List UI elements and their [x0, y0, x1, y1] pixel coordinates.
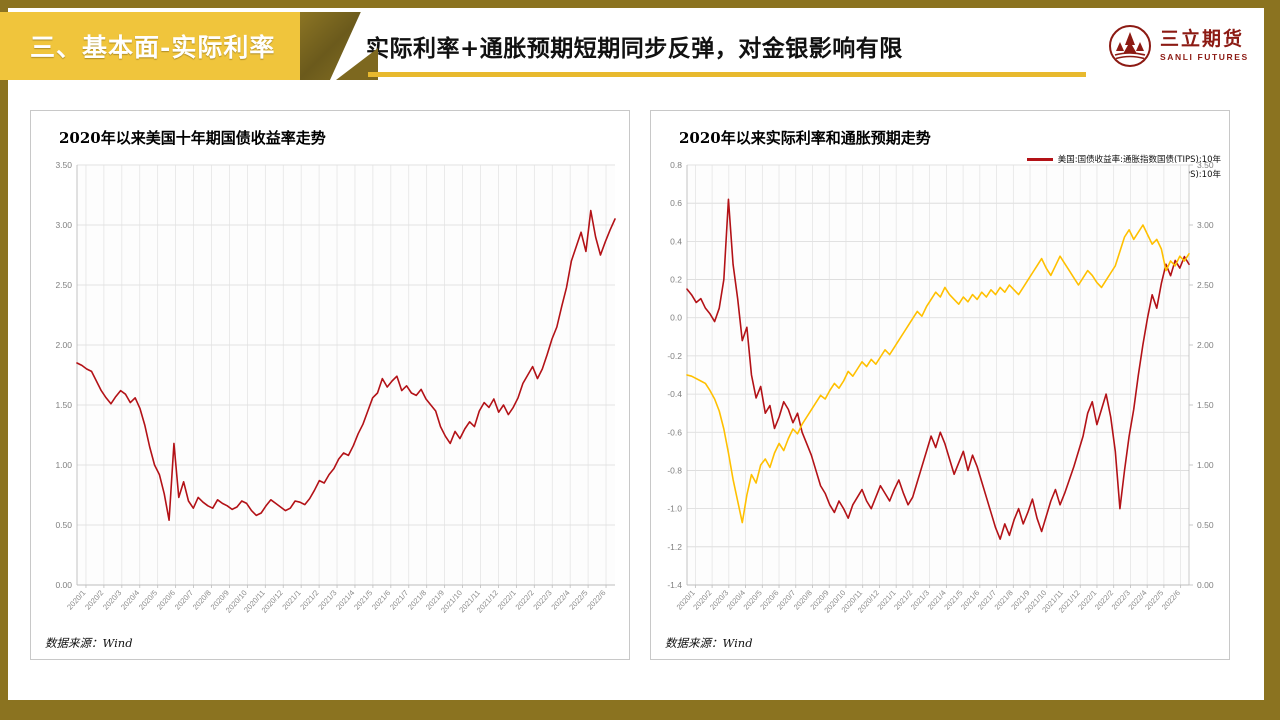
svg-text:2020/5: 2020/5: [137, 588, 159, 611]
svg-text:2.00: 2.00: [1197, 340, 1214, 350]
brand-logo: 三立期货 SANLI FUTURES: [1096, 12, 1256, 80]
svg-text:0.2: 0.2: [670, 275, 682, 285]
svg-text:2020/1: 2020/1: [65, 588, 87, 611]
svg-text:3.50: 3.50: [1197, 160, 1214, 170]
svg-text:1.00: 1.00: [55, 460, 72, 470]
svg-text:-1.4: -1.4: [667, 580, 682, 590]
svg-text:2022/3: 2022/3: [531, 588, 553, 611]
svg-text:3.50: 3.50: [55, 160, 72, 170]
right-chart-source: 数据来源：Wind: [665, 635, 753, 651]
svg-text:0.00: 0.00: [55, 580, 72, 590]
svg-text:0.50: 0.50: [1197, 520, 1214, 530]
svg-text:3.00: 3.00: [1197, 220, 1214, 230]
svg-text:2020/2: 2020/2: [83, 588, 105, 611]
svg-text:1.50: 1.50: [55, 400, 72, 410]
slide-root: 三、基本面-实际利率 实际利率+通胀预期短期同步反弹，对金银影响有限 三立期货 …: [0, 0, 1280, 720]
svg-text:2.50: 2.50: [1197, 280, 1214, 290]
svg-text:2021/4: 2021/4: [334, 588, 356, 611]
svg-text:2.50: 2.50: [55, 280, 72, 290]
chart-panel-real-rate: 2020年以来实际利率和通胀预期走势 美国:国债收益率:通胀指数国债(TIPS)…: [650, 110, 1230, 660]
svg-text:0.00: 0.00: [1197, 580, 1214, 590]
brand-text: 三立期货 SANLI FUTURES: [1160, 30, 1249, 62]
svg-text:1.00: 1.00: [1197, 460, 1214, 470]
header-underline: [368, 72, 1086, 77]
svg-text:2021/1: 2021/1: [280, 588, 302, 611]
svg-text:-0.2: -0.2: [667, 351, 682, 361]
brand-name-en: SANLI FUTURES: [1160, 53, 1249, 62]
svg-text:0.8: 0.8: [670, 160, 682, 170]
svg-text:2022/4: 2022/4: [549, 588, 571, 611]
svg-text:2.00: 2.00: [55, 340, 72, 350]
svg-text:-1.0: -1.0: [667, 504, 682, 514]
svg-text:2022/1: 2022/1: [496, 588, 518, 611]
slide-header: 三、基本面-实际利率 实际利率+通胀预期短期同步反弹，对金银影响有限 三立期货 …: [0, 12, 1256, 80]
svg-text:-0.6: -0.6: [667, 427, 682, 437]
svg-text:0.6: 0.6: [670, 198, 682, 208]
svg-text:2021/2: 2021/2: [298, 588, 320, 611]
svg-text:2020/6: 2020/6: [155, 588, 177, 611]
svg-text:-1.2: -1.2: [667, 542, 682, 552]
brand-name-cn: 三立期货: [1160, 30, 1249, 49]
svg-text:2021/5: 2021/5: [352, 588, 374, 611]
svg-text:2020/7: 2020/7: [173, 588, 195, 611]
left-chart-source: 数据来源：Wind: [45, 635, 133, 651]
svg-text:2021/7: 2021/7: [388, 588, 410, 611]
svg-text:2022/2: 2022/2: [514, 588, 536, 611]
chart-panel-treasury-yield: 2020年以来美国十年期国债收益率走势 0.000.501.001.502.00…: [30, 110, 630, 660]
svg-text:2022/5: 2022/5: [567, 588, 589, 611]
right-chart-title: 2020年以来实际利率和通胀预期走势: [679, 127, 931, 148]
svg-text:2020/4: 2020/4: [119, 588, 141, 611]
svg-text:-0.8: -0.8: [667, 465, 682, 475]
svg-text:2021/3: 2021/3: [316, 588, 338, 611]
svg-text:2021/8: 2021/8: [406, 588, 428, 611]
svg-text:1.50: 1.50: [1197, 400, 1214, 410]
svg-text:2022/6: 2022/6: [1160, 588, 1182, 611]
left-chart-plot: 0.000.501.001.502.002.503.003.502020/120…: [31, 151, 629, 651]
svg-text:0.4: 0.4: [670, 236, 682, 246]
right-chart-plot: -1.4-1.2-1.0-0.8-0.6-0.4-0.20.00.20.40.6…: [651, 151, 1229, 651]
header-section-label: 三、基本面-实际利率: [20, 12, 320, 80]
svg-text:0.50: 0.50: [55, 520, 72, 530]
svg-text:2022/6: 2022/6: [585, 588, 607, 611]
svg-text:2021/6: 2021/6: [370, 588, 392, 611]
svg-text:-0.4: -0.4: [667, 389, 682, 399]
svg-text:0.0: 0.0: [670, 313, 682, 323]
left-chart-title: 2020年以来美国十年期国债收益率走势: [59, 127, 326, 148]
sanli-emblem-icon: [1108, 24, 1152, 68]
svg-text:2020/3: 2020/3: [101, 588, 123, 611]
svg-text:2020/8: 2020/8: [191, 588, 213, 611]
svg-text:3.00: 3.00: [55, 220, 72, 230]
page-title: 实际利率+通胀预期短期同步反弹，对金银影响有限: [366, 12, 1086, 80]
